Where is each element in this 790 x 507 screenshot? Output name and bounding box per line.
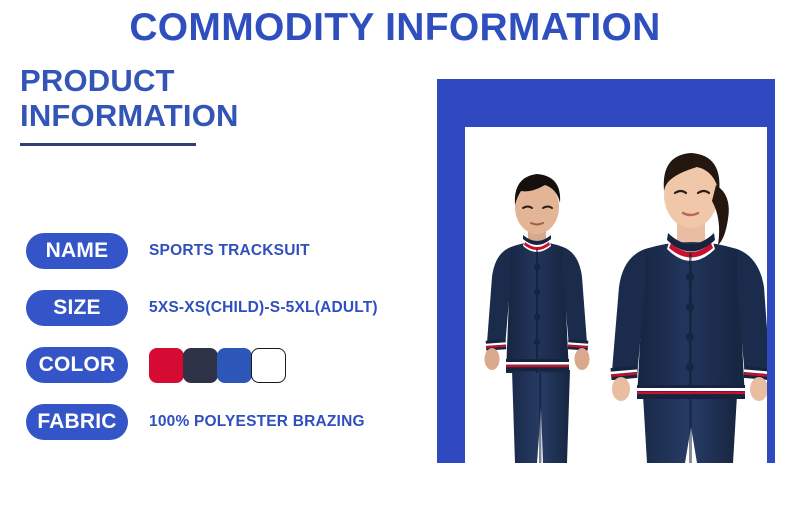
- page-title: COMMODITY INFORMATION: [0, 6, 790, 50]
- spec-row-color: COLOR: [26, 347, 416, 383]
- color-swatch-red[interactable]: [149, 348, 184, 383]
- panel-blue-right-bar: [767, 79, 775, 463]
- left-column: PRODUCT INFORMATION NAME SPORTS TRACKSUI…: [20, 64, 420, 484]
- panel-blue-top-bar: [437, 79, 775, 127]
- product-photo: [465, 127, 767, 463]
- spec-row-name: NAME SPORTS TRACKSUIT: [26, 233, 416, 269]
- spec-value-size: 5XS-XS(CHILD)-S-5XL(ADULT): [149, 299, 378, 317]
- product-photo-stage: [465, 127, 767, 463]
- section-heading-line2: INFORMATION: [20, 99, 420, 134]
- product-information-page: COMMODITY INFORMATION PRODUCT INFORMATIO…: [0, 0, 790, 507]
- color-swatch-strip: [149, 348, 286, 383]
- section-heading-line1: PRODUCT: [20, 63, 175, 98]
- spec-row-fabric: FABRIC 100% POLYESTER BRAZING: [26, 404, 416, 440]
- color-swatch-white[interactable]: [251, 348, 286, 383]
- spec-label-color: COLOR: [26, 347, 128, 383]
- female-model-figure: [611, 153, 767, 463]
- spec-label-fabric: FABRIC: [26, 404, 128, 440]
- spec-value-fabric: 100% POLYESTER BRAZING: [149, 413, 365, 431]
- color-swatch-royal-blue[interactable]: [217, 348, 252, 383]
- heading-underline: [20, 143, 196, 146]
- male-model-figure: [485, 174, 590, 463]
- product-photo-panel: [437, 79, 775, 463]
- spec-label-size: SIZE: [26, 290, 128, 326]
- spec-label-name: NAME: [26, 233, 128, 269]
- color-swatch-dark-navy[interactable]: [183, 348, 218, 383]
- panel-blue-left-bar: [437, 79, 465, 463]
- spec-row-size: SIZE 5XS-XS(CHILD)-S-5XL(ADULT): [26, 290, 416, 326]
- model-illustration: [465, 127, 767, 463]
- section-heading: PRODUCT INFORMATION: [20, 64, 420, 133]
- spec-list: NAME SPORTS TRACKSUIT SIZE 5XS-XS(CHILD)…: [26, 233, 416, 440]
- spec-value-name: SPORTS TRACKSUIT: [149, 242, 310, 260]
